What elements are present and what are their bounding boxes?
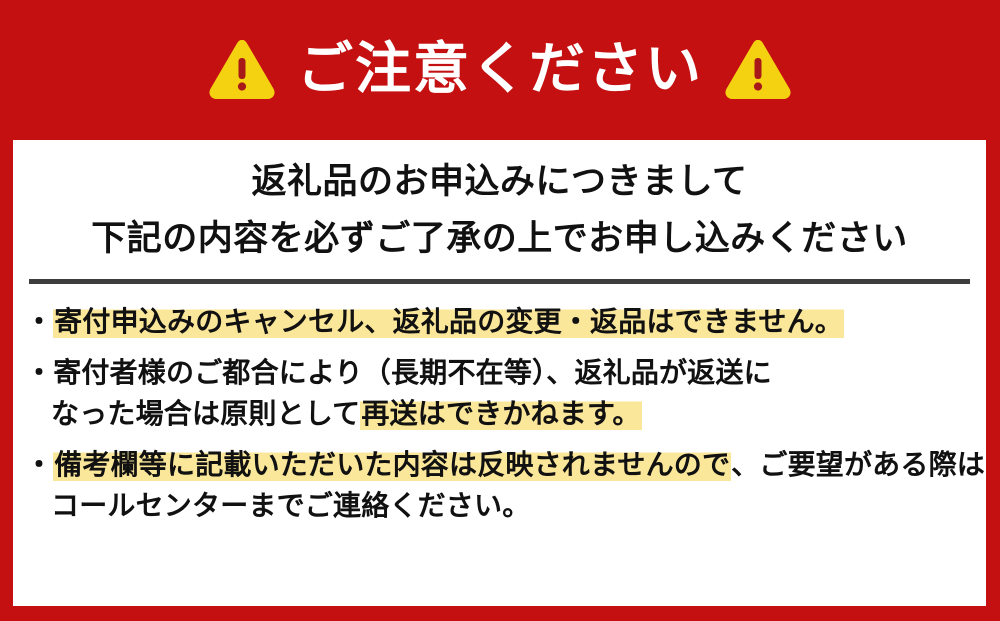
page-title: ご注意ください — [297, 42, 703, 98]
bullet-text: コールセンターまでご連絡ください。 — [51, 489, 530, 522]
panel-heading-line-2: 下記の内容を必ずご了承の上でお申し込みください — [13, 211, 986, 268]
bullet-line-1: ・備考欄等に記載いただいた内容は反映されませんので、ご要望がある際は — [25, 445, 986, 486]
bullet-text: なった場合は原則として — [51, 397, 360, 430]
bullet-line-2: なった場合は原則として再送はできかねます。 — [25, 394, 986, 435]
list-item: ・備考欄等に記載いただいた内容は反映されませんので、ご要望がある際は コールセン… — [25, 445, 986, 527]
list-item: ・寄付者様のご都合により（長期不在等）、返礼品が返送に なった場合は原則として再… — [25, 353, 986, 435]
bullet-dot: ・ — [25, 448, 53, 481]
notice-banner: ご注意ください 返礼品のお申込みにつきまして 下記の内容を必ずご了承の上でお申し… — [0, 0, 1000, 621]
content-panel: 返礼品のお申込みにつきまして 下記の内容を必ずご了承の上でお申し込みください ・… — [13, 140, 986, 606]
bullet-highlight: 備考欄等に記載いただいた内容は反映されませんので — [53, 448, 731, 481]
bullet-line-2: コールセンターまでご連絡ください。 — [25, 486, 986, 527]
bullet-text: 寄付者様のご都合により（長期不在等）、返礼品が返送に — [53, 356, 772, 389]
bullet-line-1: ・寄付申込みのキャンセル、返礼品の変更・返品はできません。 — [25, 302, 986, 343]
banner-header: ご注意ください — [0, 0, 1000, 140]
list-item: ・寄付申込みのキャンセル、返礼品の変更・返品はできません。 — [25, 302, 986, 343]
bullet-dot: ・ — [25, 305, 53, 338]
bullet-highlight: 再送はできかねます。 — [360, 397, 641, 430]
notice-bullet-list: ・寄付申込みのキャンセル、返礼品の変更・返品はできません。 ・寄付者様のご都合に… — [13, 284, 986, 526]
warning-triangle-icon — [209, 40, 275, 100]
bullet-dot: ・ — [25, 356, 53, 389]
panel-heading-line-1: 返礼品のお申込みにつきまして — [13, 154, 986, 211]
warning-triangle-icon — [725, 40, 791, 100]
bullet-text: 、ご要望がある際は — [731, 448, 985, 481]
bullet-line-1: ・寄付者様のご都合により（長期不在等）、返礼品が返送に — [25, 353, 986, 394]
bullet-highlight: 寄付申込みのキャンセル、返礼品の変更・返品はできません。 — [53, 305, 844, 338]
panel-heading: 返礼品のお申込みにつきまして 下記の内容を必ずご了承の上でお申し込みください — [13, 140, 986, 267]
